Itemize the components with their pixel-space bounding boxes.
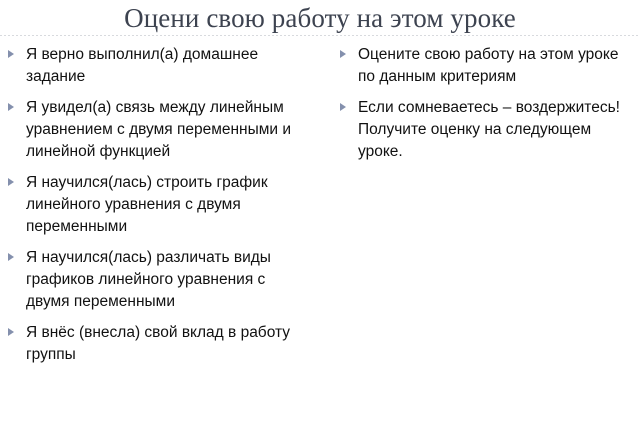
title-area: Оцени свою работу на этом уроке: [0, 0, 640, 36]
list-item[interactable]: Я внёс (внесла) свой вклад в работу груп…: [4, 322, 312, 366]
left-bullet-list: Я верно выполнил(а) домашнее задание Я у…: [4, 44, 312, 366]
list-item-label: Оцените свою работу на этом уроке по дан…: [358, 44, 632, 88]
list-item[interactable]: Я научился(лась) строить график линейног…: [4, 172, 312, 238]
left-column: Я верно выполнил(а) домашнее задание Я у…: [0, 44, 318, 366]
triangle-right-icon: [8, 328, 14, 336]
triangle-right-icon: [340, 103, 346, 111]
triangle-right-icon: [8, 178, 14, 186]
right-bullet-list: Оцените свою работу на этом уроке по дан…: [336, 44, 632, 163]
triangle-right-icon: [340, 50, 346, 58]
list-item[interactable]: Я верно выполнил(а) домашнее задание: [4, 44, 312, 88]
list-item-label: Я увидел(а) связь между линейным уравнен…: [26, 97, 312, 163]
list-item[interactable]: Если сомневаетесь – воздержитесь! Получи…: [336, 97, 632, 163]
list-item[interactable]: Я научился(лась) различать виды графиков…: [4, 247, 312, 313]
list-item[interactable]: Я увидел(а) связь между линейным уравнен…: [4, 97, 312, 163]
list-item-label: Я внёс (внесла) свой вклад в работу груп…: [26, 322, 312, 366]
list-item-label: Я верно выполнил(а) домашнее задание: [26, 44, 312, 88]
page-title: Оцени свою работу на этом уроке: [124, 3, 516, 33]
right-column: Оцените свою работу на этом уроке по дан…: [318, 44, 640, 163]
list-item-label: Если сомневаетесь – воздержитесь! Получи…: [358, 97, 632, 163]
slide: Оцени свою работу на этом уроке Я верно …: [0, 0, 640, 426]
triangle-right-icon: [8, 50, 14, 58]
triangle-right-icon: [8, 103, 14, 111]
list-item-label: Я научился(лась) различать виды графиков…: [26, 247, 312, 313]
title-divider: [0, 35, 640, 36]
list-item-label: Я научился(лась) строить график линейног…: [26, 172, 312, 238]
list-item[interactable]: Оцените свою работу на этом уроке по дан…: [336, 44, 632, 88]
content-columns: Я верно выполнил(а) домашнее задание Я у…: [0, 44, 640, 426]
triangle-right-icon: [8, 253, 14, 261]
